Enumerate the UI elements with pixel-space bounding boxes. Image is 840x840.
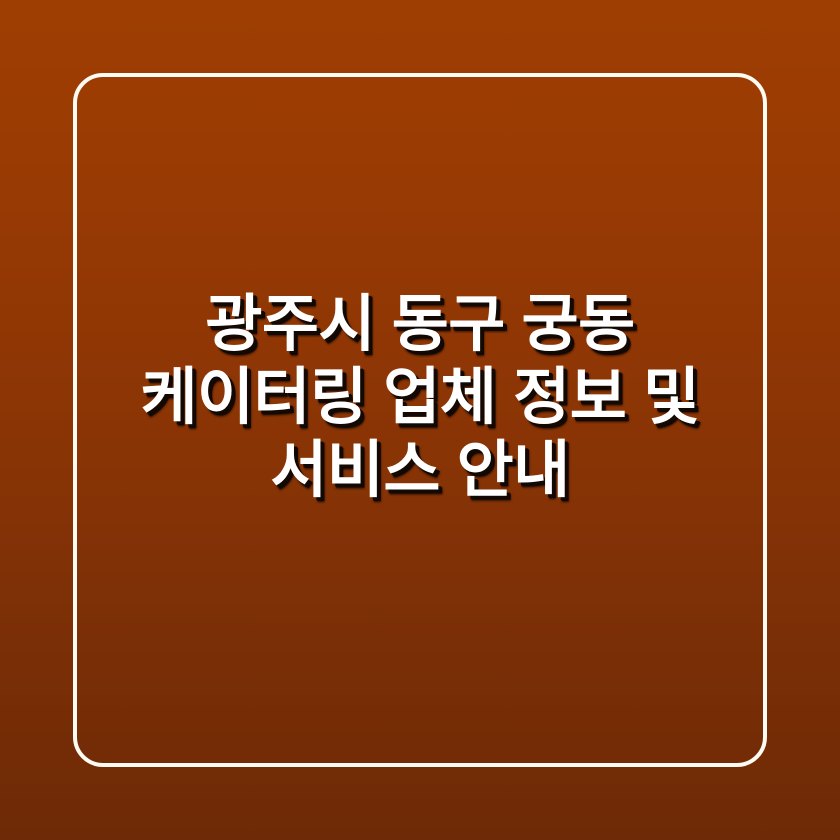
- title-line-2: 케이터링 업체 정보 및: [73, 361, 767, 434]
- title-line-1: 광주시 동구 궁동: [73, 288, 767, 361]
- title-line-3: 서비스 안내: [73, 434, 767, 507]
- poster-canvas: 광주시 동구 궁동 케이터링 업체 정보 및 서비스 안내: [0, 0, 840, 840]
- title-block: 광주시 동구 궁동 케이터링 업체 정보 및 서비스 안내: [73, 73, 767, 767]
